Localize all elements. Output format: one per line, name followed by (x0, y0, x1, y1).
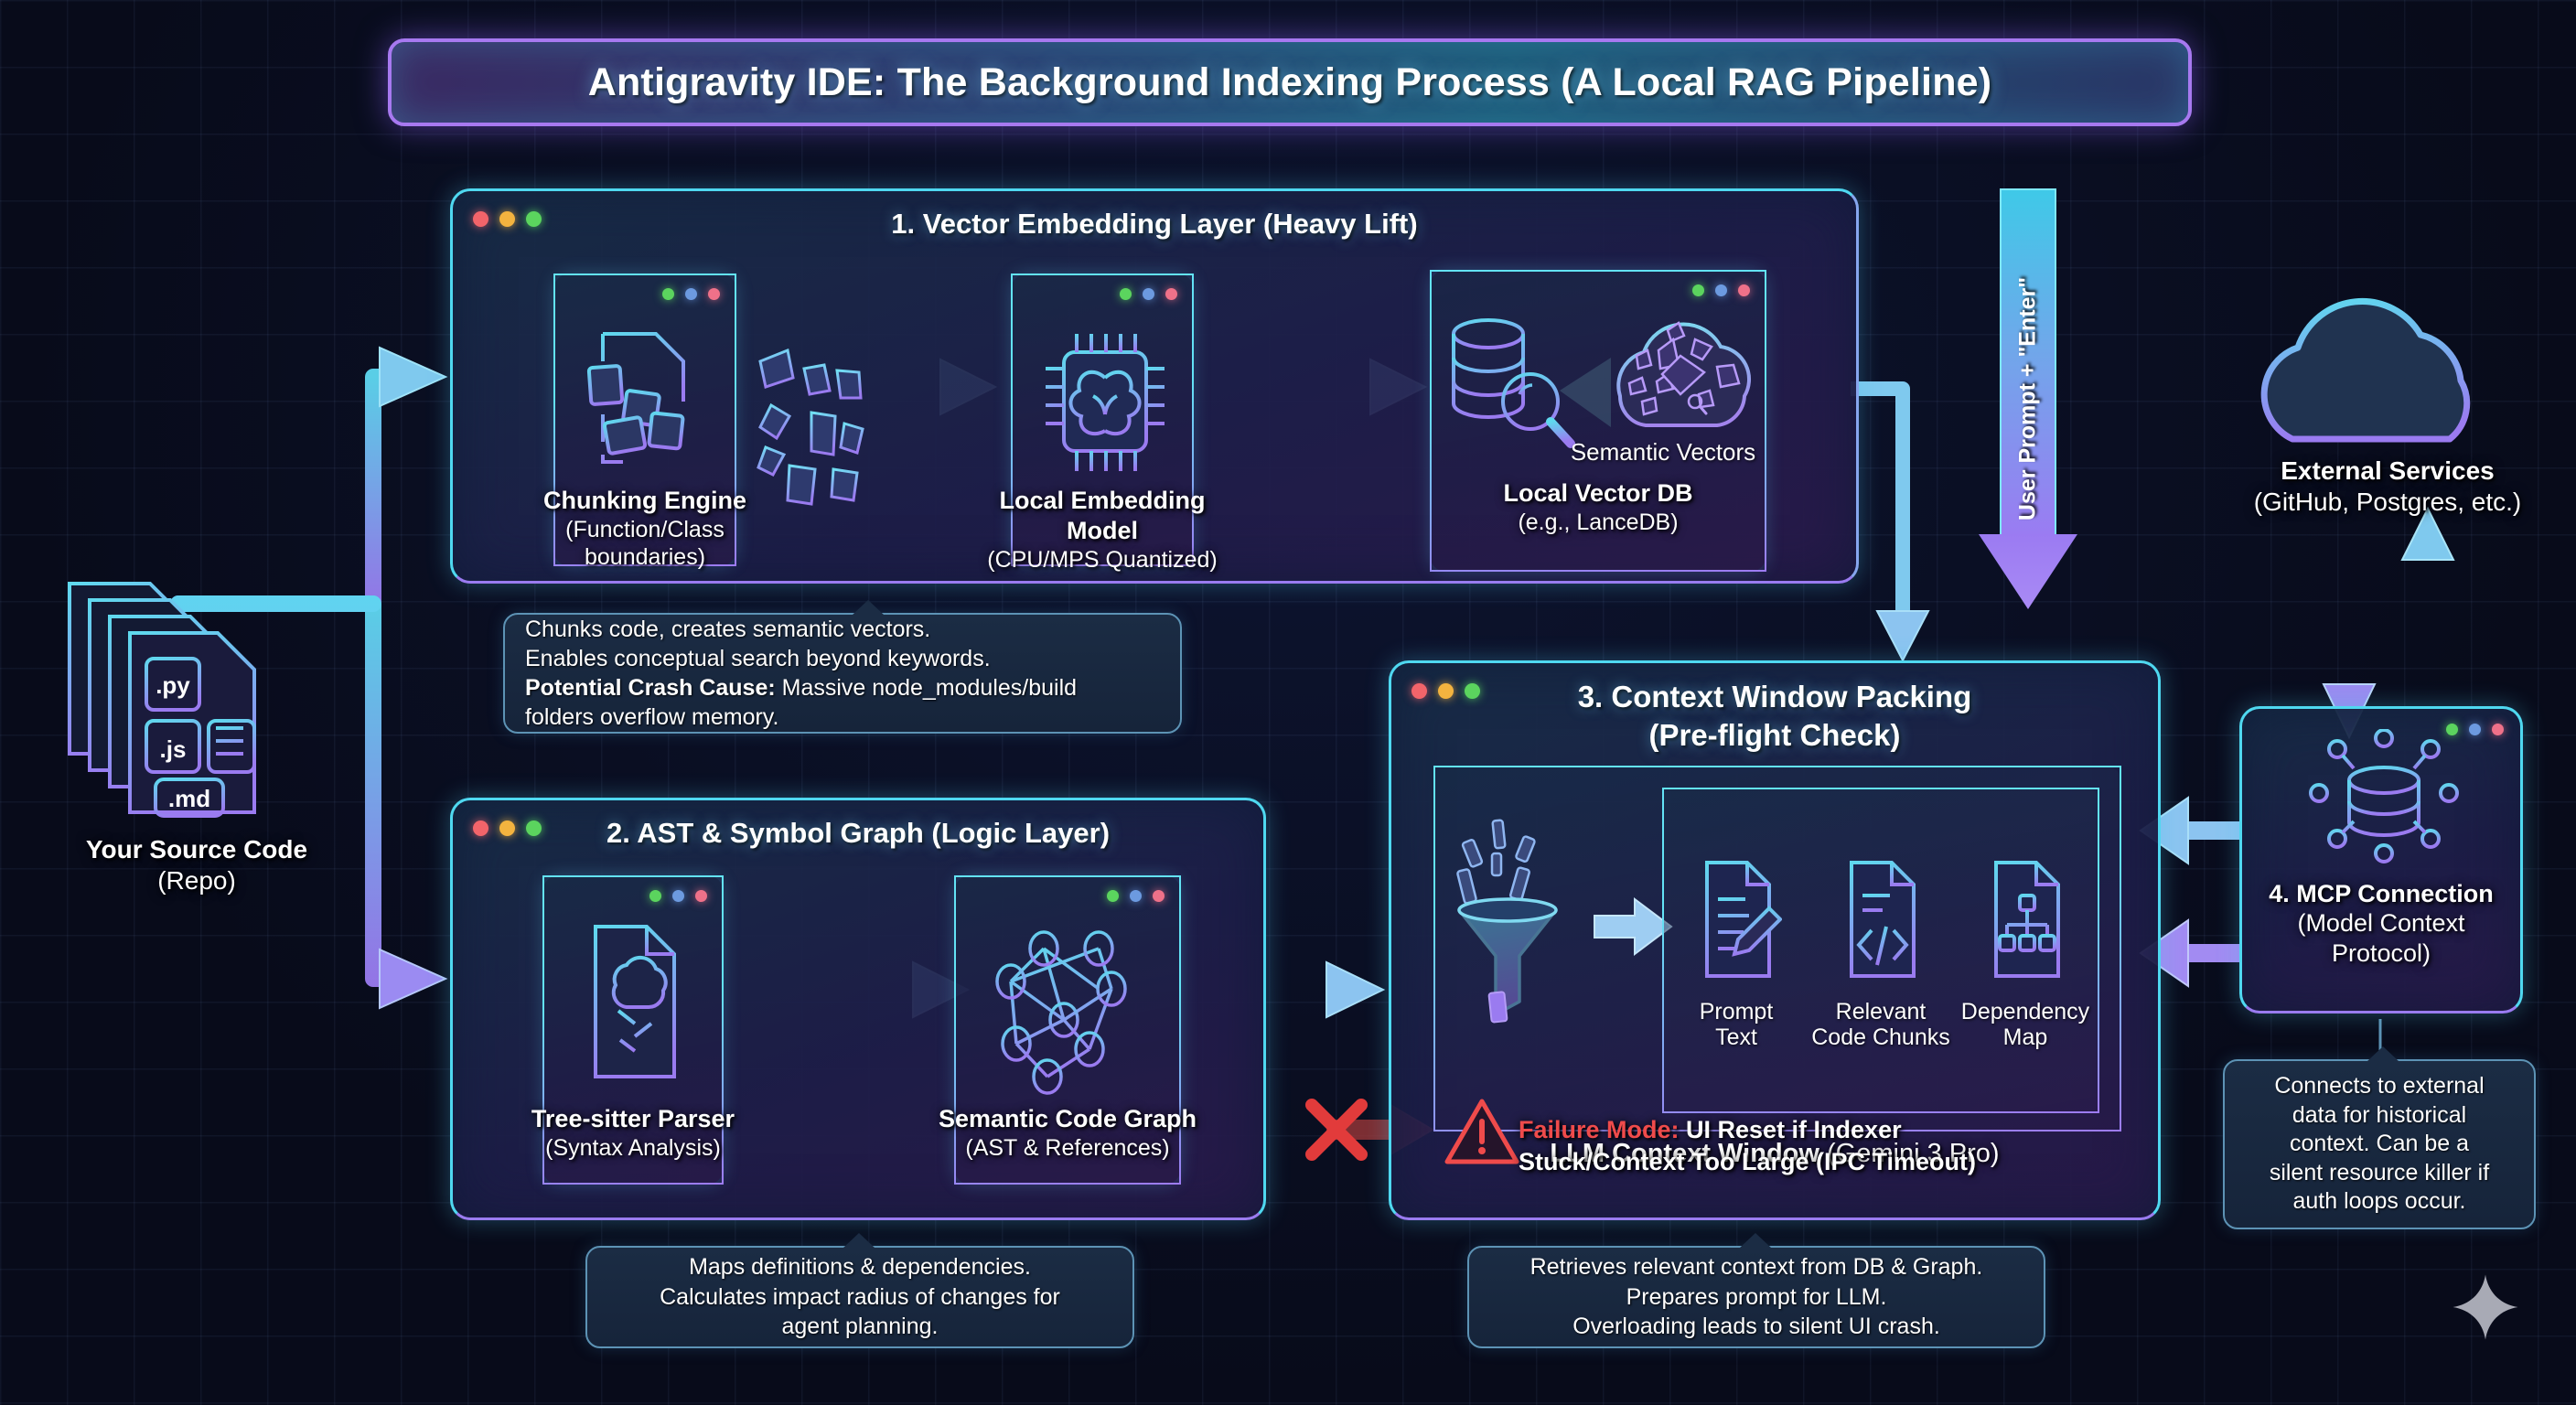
card-local-vector-db-label: Local Vector DB (e.g., LanceDB) (1404, 478, 1792, 536)
context-item-label-line1: Prompt (1700, 999, 1774, 1024)
code-file-icon (1835, 852, 1927, 989)
context-item-label-line1: Relevant (1836, 999, 1927, 1024)
card-sub: (AST & References) (928, 1134, 1207, 1163)
mcp-sub-line1: (Model Context (2297, 909, 2464, 937)
diagram-canvas: Antigravity IDE: The Background Indexing… (0, 0, 2576, 1405)
callout-line-4: silent resource killer if (2238, 1159, 2521, 1188)
callout-ast-symbol-graph: Maps definitions & dependencies. Calcula… (585, 1246, 1134, 1348)
external-services-sub: (GitHub, Postgres, etc.) (2254, 488, 2522, 516)
card5-dots (1107, 890, 1165, 902)
callout-line-1: Chunks code, creates semantic vectors. (525, 615, 1160, 644)
prompt-arrow-head (1979, 534, 2077, 609)
panel3-title-line2: (Pre-flight Check) (1391, 718, 2158, 753)
panel-ast-symbol-graph: 2. AST & Symbol Graph (Logic Layer) T (450, 798, 1266, 1220)
card-tree-sitter-label: Tree-sitter Parser (Syntax Analysis) (517, 1104, 749, 1162)
window-dot-pink[interactable] (1738, 284, 1750, 296)
failure-mode-prefix: Failure Mode: (1519, 1116, 1680, 1143)
context-item-prompt-text: Prompt Text (1664, 852, 1809, 1050)
card-title: Chunking Engine (528, 486, 762, 516)
sitemap-file-icon (1980, 852, 2071, 989)
source-code-label: Your Source Code (Repo) (14, 834, 380, 896)
card-local-vector-db: Semantic Vectors Local Vector DB (e.g., … (1430, 270, 1766, 572)
shards-icon (746, 338, 883, 530)
callout-notch (853, 600, 884, 615)
callout-line-3: context. Can be a (2238, 1130, 2521, 1159)
brain-chip-icon (1013, 312, 1196, 495)
callout-vector-embedding: Chunks code, creates semantic vectors. E… (503, 613, 1182, 734)
callout-line-2: data for historical (2238, 1101, 2521, 1131)
card1-dots (662, 288, 720, 300)
callout-line-3: Potential Crash Cause: Massive node_modu… (525, 673, 1160, 702)
callout-mcp-connection: Connects to external data for historical… (2223, 1059, 2536, 1229)
card-chunking-engine-label: Chunking Engine (Function/Class boundari… (528, 486, 762, 572)
mcp-sub-line2: Protocol) (2248, 938, 2515, 968)
window-dot-pink[interactable] (1153, 890, 1165, 902)
card-tree-sitter-parser: Tree-sitter Parser (Syntax Analysis) (542, 875, 724, 1185)
card-sub: (Syntax Analysis) (517, 1134, 749, 1163)
external-services-group: External Services (GitHub, Postgres, etc… (2214, 293, 2561, 512)
panel3-title-line1: 3. Context Window Packing (1391, 680, 2158, 714)
llm-context-window-box: Prompt Text Rel (1433, 766, 2121, 1132)
card-chunking-engine: Chunking Engine (Function/Class boundari… (553, 273, 736, 566)
user-prompt-arrow: User Prompt + "Enter" (2000, 188, 2056, 609)
file-badge-js: .js (160, 735, 187, 763)
context-item-label-line1: Dependency (1961, 999, 2089, 1024)
mcp-label: 4. MCP Connection (Model Context Protoco… (2248, 879, 2515, 968)
card-title: Tree-sitter Parser (517, 1104, 749, 1134)
card4-dots (649, 890, 707, 902)
prompt-arrow-label: User Prompt + "Enter" (2015, 277, 2042, 520)
context-item-label-line2: Code Chunks (1811, 1024, 1949, 1050)
external-services-title: External Services (2195, 456, 2576, 487)
semantic-vectors-label: Semantic Vectors (1569, 438, 1757, 467)
external-services-label: External Services (GitHub, Postgres, etc… (2195, 456, 2576, 518)
card3-dots (1692, 284, 1750, 296)
context-item-label-line2: Map (2003, 1024, 2048, 1050)
context-item-relevant-code-chunks: Relevant Code Chunks (1809, 852, 1953, 1050)
callout-line-1: Connects to external (2238, 1072, 2521, 1101)
callout-line-2: Calculates impact radius of changes for (604, 1282, 1116, 1313)
callout-notch (843, 1233, 875, 1248)
source-code-files-icon: .py .js .md (55, 567, 338, 832)
document-pencil-icon (1690, 852, 1782, 989)
window-dot-pink[interactable] (1165, 288, 1177, 300)
tree-document-icon (544, 914, 725, 1097)
callout-bold-label: Potential Crash Cause: (525, 675, 776, 701)
window-dot-pink[interactable] (708, 288, 720, 300)
callout-line-5: auth loops occur. (2238, 1187, 2521, 1217)
window-dot-blue[interactable] (1143, 288, 1154, 300)
failure-mode-line2: Stuck/Context Too Large (IPC Timeout) (1519, 1148, 1976, 1175)
callout-line-2: Prepares prompt for LLM. (1486, 1282, 2027, 1313)
context-items-group: Prompt Text Rel (1662, 788, 2099, 1113)
callout-line-1: Maps definitions & dependencies. (604, 1252, 1116, 1282)
database-nodes-icon (2242, 729, 2526, 866)
gemini-sparkle-icon (2452, 1273, 2519, 1341)
context-item-dependency-map: Dependency Map (1953, 852, 2098, 1050)
callout-notch (1740, 1233, 1771, 1248)
context-item-label: Relevant Code Chunks (1809, 999, 1953, 1050)
panel-mcp-connection: 4. MCP Connection (Model Context Protoco… (2239, 706, 2523, 1014)
callout-notch (2367, 1046, 2399, 1061)
funnel-icon (1452, 813, 1589, 1024)
window-dot-green[interactable] (649, 890, 661, 902)
card-sub: (CPU/MPS Quantized) (985, 546, 1219, 574)
card-title: Local Vector DB (1404, 478, 1792, 509)
source-code-title: Your Source Code (14, 834, 380, 865)
cloud-icon (2214, 293, 2561, 467)
window-dot-blue[interactable] (685, 288, 697, 300)
context-item-label: Dependency Map (1953, 999, 2098, 1050)
panel-vector-embedding-layer: 1. Vector Embedding Layer (Heavy Lift) (450, 188, 1859, 584)
mcp-title: 4. MCP Connection (2248, 879, 2515, 908)
page-title-banner: Antigravity IDE: The Background Indexing… (388, 38, 2192, 126)
window-dot-green[interactable] (1692, 284, 1704, 296)
card2-dots (1120, 288, 1177, 300)
card-semantic-code-graph-label: Semantic Code Graph (AST & References) (928, 1104, 1207, 1162)
failure-mode-row: Failure Mode: UI Reset if Indexer Stuck/… (1519, 1096, 2122, 1196)
card-local-embedding-model-label: Local Embedding Model (CPU/MPS Quantized… (985, 486, 1219, 574)
page-title: Antigravity IDE: The Background Indexing… (588, 60, 1992, 105)
window-dot-blue[interactable] (1130, 890, 1142, 902)
window-dot-green[interactable] (1120, 288, 1132, 300)
callout-line-3: agent planning. (604, 1312, 1116, 1342)
file-badge-py: .py (156, 671, 190, 699)
card-title: Local Embedding Model (985, 486, 1219, 546)
card-semantic-code-graph: Semantic Code Graph (AST & References) (954, 875, 1181, 1185)
callout-line-4: folders overflow memory. (525, 702, 1160, 732)
warning-triangle-icon (1444, 1096, 1520, 1169)
context-item-label-line2: Text (1715, 1024, 1757, 1050)
window-dot-pink[interactable] (695, 890, 707, 902)
card-title: Semantic Code Graph (928, 1104, 1207, 1134)
failure-mode-text: Failure Mode: UI Reset if Indexer Stuck/… (1519, 1114, 1976, 1177)
panel2-title: 2. AST & Symbol Graph (Logic Layer) (453, 817, 1263, 850)
window-dot-green[interactable] (662, 288, 674, 300)
callout-line-2: Enables conceptual search beyond keyword… (525, 644, 1160, 673)
code-fragments-icon (555, 314, 738, 488)
source-code-group: .py .js .md Your Source Code (Repo) (55, 567, 338, 869)
panel1-title: 1. Vector Embedding Layer (Heavy Lift) (453, 208, 1856, 241)
source-code-sub: (Repo) (157, 866, 236, 895)
callout-line-1: Retrieves relevant context from DB & Gra… (1486, 1252, 2027, 1282)
callout-context-window-packing: Retrieves relevant context from DB & Gra… (1467, 1246, 2045, 1348)
node-graph-icon (956, 910, 1183, 1102)
window-dot-green[interactable] (1107, 890, 1119, 902)
failure-mode-line1: UI Reset if Indexer (1680, 1116, 1902, 1143)
callout-line-3-rest: Massive node_modules/build (776, 675, 1077, 701)
window-dot-blue[interactable] (1715, 284, 1727, 296)
context-item-label: Prompt Text (1664, 999, 1809, 1050)
card-sub: (Function/Class boundaries) (528, 516, 762, 572)
window-dot-blue[interactable] (672, 890, 684, 902)
callout-line-3: Overloading leads to silent UI crash. (1486, 1312, 2027, 1342)
card-local-embedding-model: Local Embedding Model (CPU/MPS Quantized… (1011, 273, 1194, 566)
card-sub: (e.g., LanceDB) (1404, 509, 1792, 537)
file-badge-md: .md (168, 785, 210, 812)
